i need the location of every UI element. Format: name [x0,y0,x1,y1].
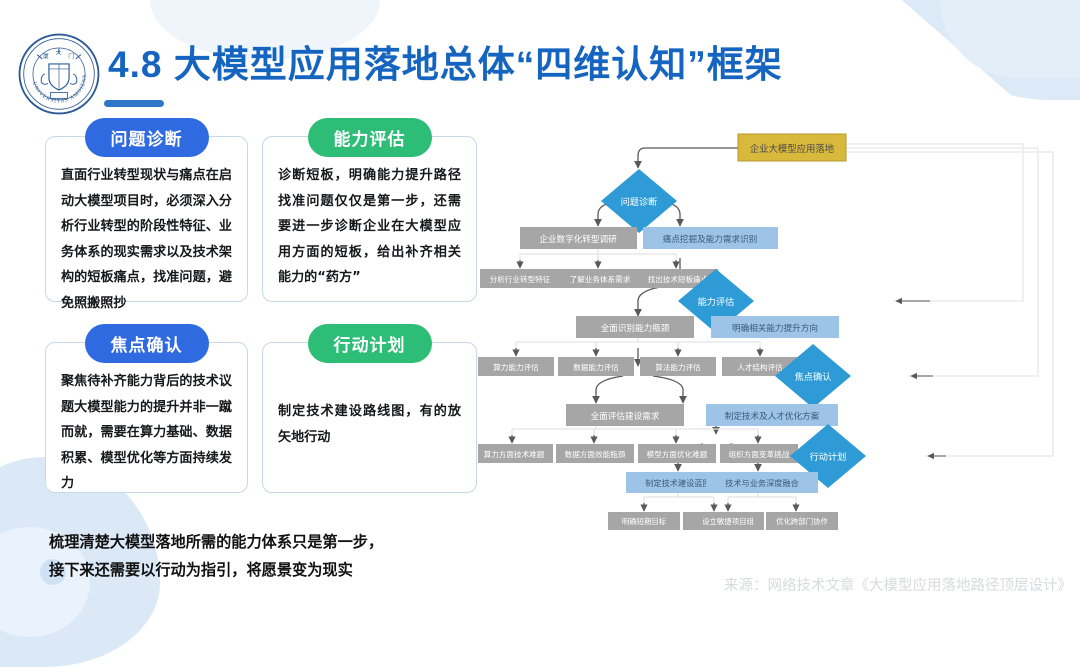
svg-text:企业大模型应用落地: 企业大模型应用落地 [750,143,835,155]
flow-node-p3b[interactable]: 数据能力评估 [558,357,634,376]
conclusion-text: 梳理清楚大模型落地所需的能力体系只是第一步， 接下来还需要以行动为指引，将愿景变… [49,528,489,584]
svg-text:制定技术建设蓝图: 制定技术建设蓝图 [645,478,711,488]
conclusion-line-2: 接下来还需要以行动为指引，将愿景变为现实 [49,556,489,584]
svg-text:痛点挖掘及能力需求识别: 痛点挖掘及能力需求识别 [663,233,758,245]
flow-node-p5b[interactable]: 数据方面效能瓶颈 [556,444,634,463]
card-pill-focus-confirmation: 焦点确认 [85,324,209,363]
svg-text:企业数字化转型调研: 企业数字化转型调研 [539,233,617,245]
background-corner-top-right-inner [940,0,1080,78]
svg-text:全面评估建设需求: 全面评估建设需求 [591,410,660,422]
flow-node-p5d[interactable]: 组织方面变革挑战 [720,444,798,463]
svg-text:明确短期目标: 明确短期目标 [622,517,667,526]
flow-node-p4[interactable]: 明确相关能力提升方向 [711,316,839,338]
card-focus-confirmation: 焦点确认 聚焦待补齐能力背后的技术议题大模型能力的提升并非一蹴而就，需要在算力基… [45,342,248,493]
svg-text:明确相关能力提升方向: 明确相关能力提升方向 [732,322,818,334]
svg-text:问题诊断: 问题诊断 [621,196,658,208]
card-body-capability-assessment: 诊断短板，明确能力提升路径找准问题仅仅是第一步，还需要进一步诊断企业在大模型应用… [263,137,476,303]
university-seal-icon: UNIVERSITAS AMOIENSIS 厦 大 门 [17,32,101,116]
svg-text:技术与业务深度融合: 技术与业务深度融合 [725,478,799,488]
svg-text:全面识别能力瓶颈: 全面识别能力瓶颈 [601,322,670,334]
svg-text:设立敏捷项目组: 设立敏捷项目组 [702,517,754,526]
svg-text:算力能力评估: 算力能力评估 [493,362,539,372]
conclusion-line-1: 梳理清楚大模型落地所需的能力体系只是第一步， [49,528,489,556]
svg-text:数据方面效能瓶颈: 数据方面效能瓶颈 [565,449,626,459]
svg-text:组织方面变革挑战: 组织方面变革挑战 [729,449,790,459]
svg-text:了解业务体系需求: 了解业务体系需求 [570,274,631,284]
title-underline [104,100,164,107]
flow-node-start[interactable]: 企业大模型应用落地 [738,134,846,161]
flow-node-p8a[interactable]: 设立敏捷项目组 [692,512,764,530]
card-body-focus-confirmation: 聚焦待补齐能力背后的技术议题大模型能力的提升并非一蹴而就，需要在算力基础、数据积… [46,343,247,509]
flow-node-p1a[interactable]: 分析行业转型特征 [480,269,560,288]
flowchart-diagram: 企业大模型应用落地 问题诊断 企业数字化转型调研 痛点挖掘及能力需求识别 分析行… [478,126,1078,546]
flow-node-d1[interactable]: 问题诊断 [601,169,677,233]
svg-text:行动计划: 行动计划 [810,451,847,463]
flow-node-p5c[interactable]: 模型方面优化难题 [638,444,716,463]
svg-text:能力评估: 能力评估 [698,296,735,308]
card-capability-assessment: 能力评估 诊断短板，明确能力提升路径找准问题仅仅是第一步，还需要进一步诊断企业在… [262,136,477,302]
flow-node-p1[interactable]: 企业数字化转型调研 [520,227,637,249]
loop-rails [823,144,1053,456]
card-action-plan: 行动计划 制定技术建设路线图，有的放矢地行动 [262,342,477,493]
svg-text:人才结构评估: 人才结构评估 [737,362,783,372]
page-title: 4.8 大模型应用落地总体“四维认知”框架 [108,34,783,88]
card-pill-problem-diagnosis: 问题诊断 [85,118,209,157]
flow-node-p7a[interactable]: 明确短期目标 [608,512,680,530]
svg-text:厦: 厦 [43,53,49,60]
svg-text:算法能力评估: 算法能力评估 [655,362,701,372]
flow-node-p3a[interactable]: 算力能力评估 [478,357,554,376]
svg-text:模型方面优化难题: 模型方面优化难题 [647,449,708,459]
card-pill-capability-assessment: 能力评估 [308,118,432,157]
flow-node-p1b[interactable]: 了解业务体系需求 [560,269,640,288]
svg-text:优化跨部门协作: 优化跨部门协作 [776,517,828,526]
svg-text:分析行业转型特征: 分析行业转型特征 [490,274,551,284]
flow-node-p8[interactable]: 技术与业务深度融合 [706,472,818,493]
flow-node-p6[interactable]: 制定技术及人才优化方案 [706,404,838,426]
flow-node-p8b[interactable]: 优化跨部门协作 [766,512,838,530]
svg-text:大: 大 [56,49,62,57]
svg-text:焦点确认: 焦点确认 [795,371,832,383]
card-body-problem-diagnosis: 直面行业转型现状与痛点在启动大模型项目时，必须深入分析行业转型的阶段性特征、业务… [46,137,247,328]
card-pill-action-plan: 行动计划 [308,324,432,363]
flow-node-p5a[interactable]: 算力方面技术难题 [478,444,553,463]
flow-node-p5[interactable]: 全面评估建设需求 [566,404,684,426]
loop-arrowheads [896,301,946,456]
flow-node-d3[interactable]: 焦点确认 [775,344,851,408]
svg-text:数据能力评估: 数据能力评估 [573,362,619,372]
svg-text:算力方面技术难题: 算力方面技术难题 [484,449,545,459]
flow-node-p2[interactable]: 痛点挖掘及能力需求识别 [643,227,778,249]
svg-text:门: 门 [68,52,74,60]
card-problem-diagnosis: 问题诊断 直面行业转型现状与痛点在启动大模型项目时，必须深入分析行业转型的阶段性… [45,136,248,302]
flow-node-p3c[interactable]: 算法能力评估 [640,357,716,376]
source-credit: 来源：网络技术文章《大模型应用落地路径顶层设计》 [724,574,1072,595]
svg-text:制定技术及人才优化方案: 制定技术及人才优化方案 [725,410,820,422]
flow-node-p3[interactable]: 全面识别能力瓶颈 [576,316,694,338]
svg-text:UNIVERSITAS AMOIENSIS: UNIVERSITAS AMOIENSIS [17,32,88,105]
svg-text:找出技术短板痛点: 找出技术短板痛点 [648,274,709,284]
